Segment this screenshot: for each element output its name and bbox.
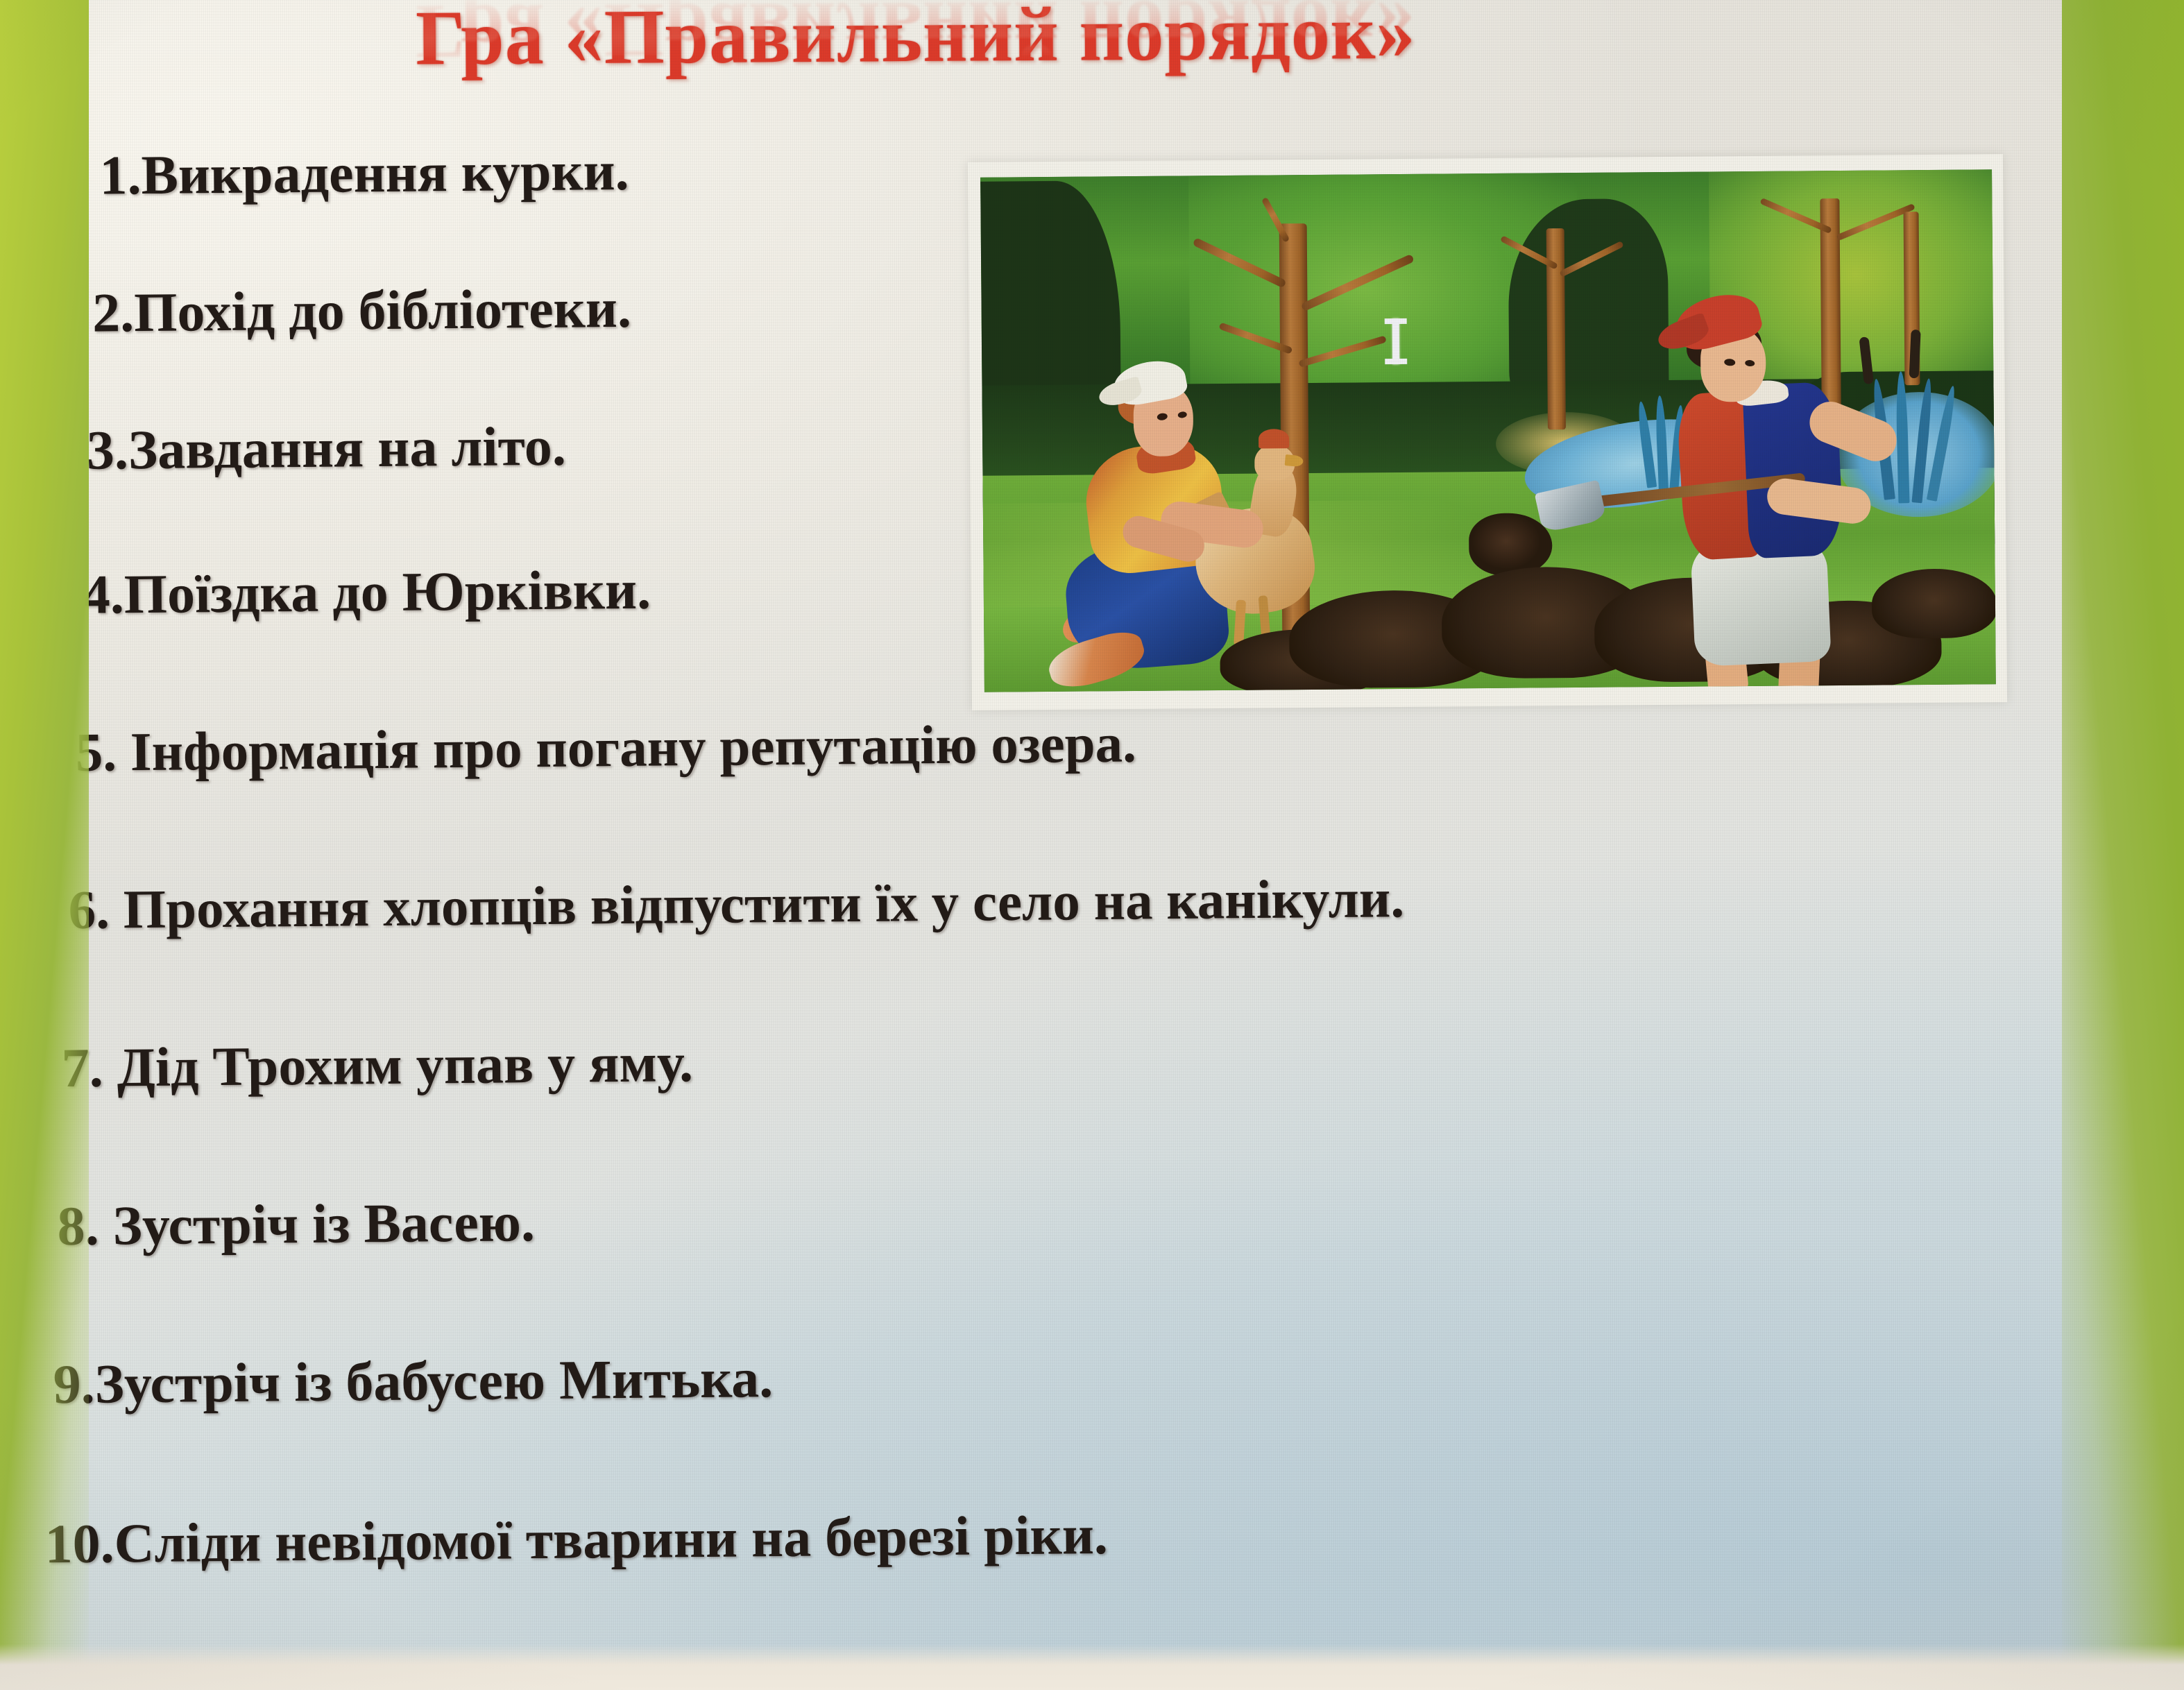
list-item[interactable]: 7. Дід Трохим упав у яму. <box>61 1023 2042 1096</box>
page-title-reflection: Гра «Правильний порядок» <box>0 0 1832 74</box>
slide-photo: Гра «Правильний порядок» Гра «Правильний… <box>0 0 2184 1690</box>
list-item[interactable]: 6. Прохання хлопців відпустити їх у село… <box>68 866 2040 938</box>
list-item[interactable]: 8. Зустріч із Васею. <box>57 1181 2043 1254</box>
list-item[interactable]: 5. Інформація про погану репутацію озера… <box>75 708 2039 780</box>
photo-edge-left <box>0 0 89 1690</box>
list-item[interactable]: 1.Викрадення курки. <box>99 131 2034 203</box>
photo-edge-right <box>2062 0 2184 1690</box>
list-item[interactable]: 4.Поїздка до Юрківки. <box>82 550 2038 623</box>
list-item[interactable]: 2.Похід до бібліотеки. <box>92 268 2036 341</box>
photo-edge-bottom <box>0 1644 2184 1690</box>
title-block: Гра «Правильний порядок» Гра «Правильний… <box>0 0 1832 153</box>
list-item[interactable]: 9.Зустріч із бабусею Митька. <box>53 1340 2045 1412</box>
ordered-events-list: 1.Викрадення курки. 2.Похід до бібліотек… <box>0 127 2046 1573</box>
list-item[interactable]: 3.Завдання на літо. <box>87 406 2037 479</box>
